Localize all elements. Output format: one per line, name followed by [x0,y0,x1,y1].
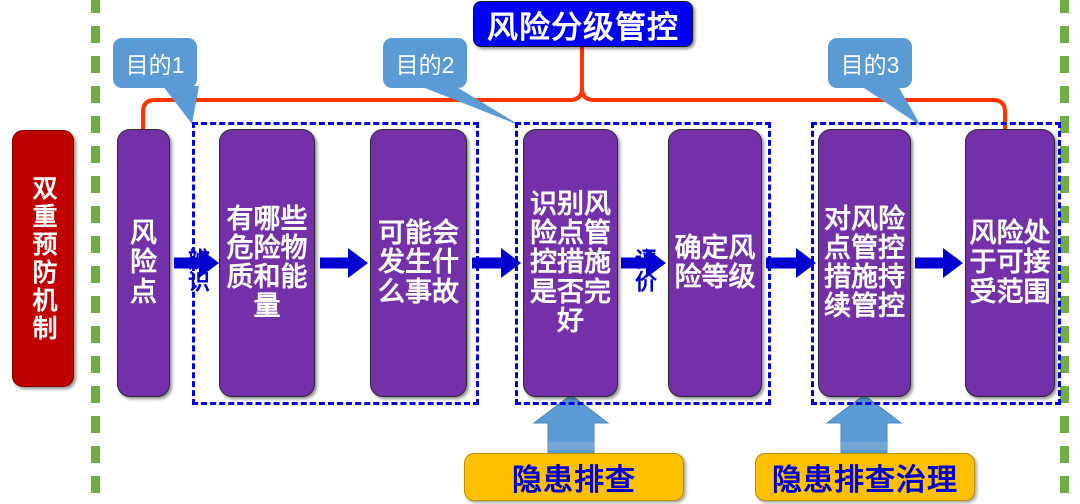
boundary-line-right [1060,0,1069,504]
process-box-6[interactable]: 对风险点管控措施持续管控 [818,129,911,397]
boundary-line-left [91,0,100,504]
arrow-head [796,248,816,278]
flow-arrow-5 [766,248,816,278]
bottom-box-hazard-inspection[interactable]: 隐患排查 [464,453,684,501]
bottom-box-hazard-treatment[interactable]: 隐患排查治理 [755,453,975,501]
process-box-5-text: 确定风险等级 [671,234,759,292]
process-box-1-text: 风险点 [120,219,167,306]
diagram-canvas: 双重预防机制 风险分级管控 风险点 有哪些危险物质和能量 可能会发生什么事故 识… [0,0,1080,499]
flow-arrow-3 [472,248,521,278]
arrow-label-bianshi: 辨识 [182,220,208,320]
callout-purpose-2[interactable]: 目的2 [383,38,467,88]
process-box-7-text: 风险处于可接受范围 [968,219,1052,306]
process-box-7[interactable]: 风险处于可接受范围 [965,129,1055,397]
callout-tail-2 [420,86,521,126]
process-box-3-text: 可能会发生什么事故 [373,219,464,306]
page-title-text: 风险分级管控 [487,2,679,47]
process-box-6-text: 对风险点管控措施持续管控 [821,205,908,322]
process-box-2[interactable]: 有哪些危险物质和能量 [219,129,315,397]
arrow-shaft [915,258,945,269]
process-box-2-text: 有哪些危险物质和能量 [222,205,312,322]
flow-arrow-2 [320,248,368,278]
arrow-head [501,248,521,278]
bottom-box-1-text: 隐患排查 [512,455,636,499]
left-title-box: 双重预防机制 [12,130,74,387]
callout-tail-3 [861,86,921,126]
bottom-box-2-text: 隐患排查治理 [772,455,958,499]
arrow-shaft [766,258,798,269]
left-title-text: 双重预防机制 [29,175,57,343]
flow-arrow-6 [915,248,963,278]
arrow-head [348,248,368,278]
process-box-1[interactable]: 风险点 [117,129,170,397]
page-title: 风险分级管控 [473,1,693,47]
arrow-shaft [320,258,350,269]
callout-purpose-3-text: 目的3 [841,46,900,80]
process-box-4[interactable]: 识别风险点管控措施是否完好 [523,129,618,397]
callout-tail-1 [163,86,199,124]
arrow-label-pingjia: 评价 [629,220,655,320]
process-box-5[interactable]: 确定风险等级 [668,129,762,397]
arrow-head [943,248,963,278]
process-box-3[interactable]: 可能会发生什么事故 [370,129,467,397]
callout-purpose-1[interactable]: 目的1 [113,38,197,88]
process-box-4-text: 识别风险点管控措施是否完好 [526,190,615,336]
callout-purpose-3[interactable]: 目的3 [828,38,912,88]
callout-purpose-2-text: 目的2 [396,46,455,80]
arrow-shaft [472,258,503,269]
red-connector-right [582,45,1005,128]
arrow-label-bianshi-text: 辨识 [185,248,210,292]
callout-purpose-1-text: 目的1 [126,46,185,80]
arrow-label-pingjia-text: 评价 [632,248,657,292]
